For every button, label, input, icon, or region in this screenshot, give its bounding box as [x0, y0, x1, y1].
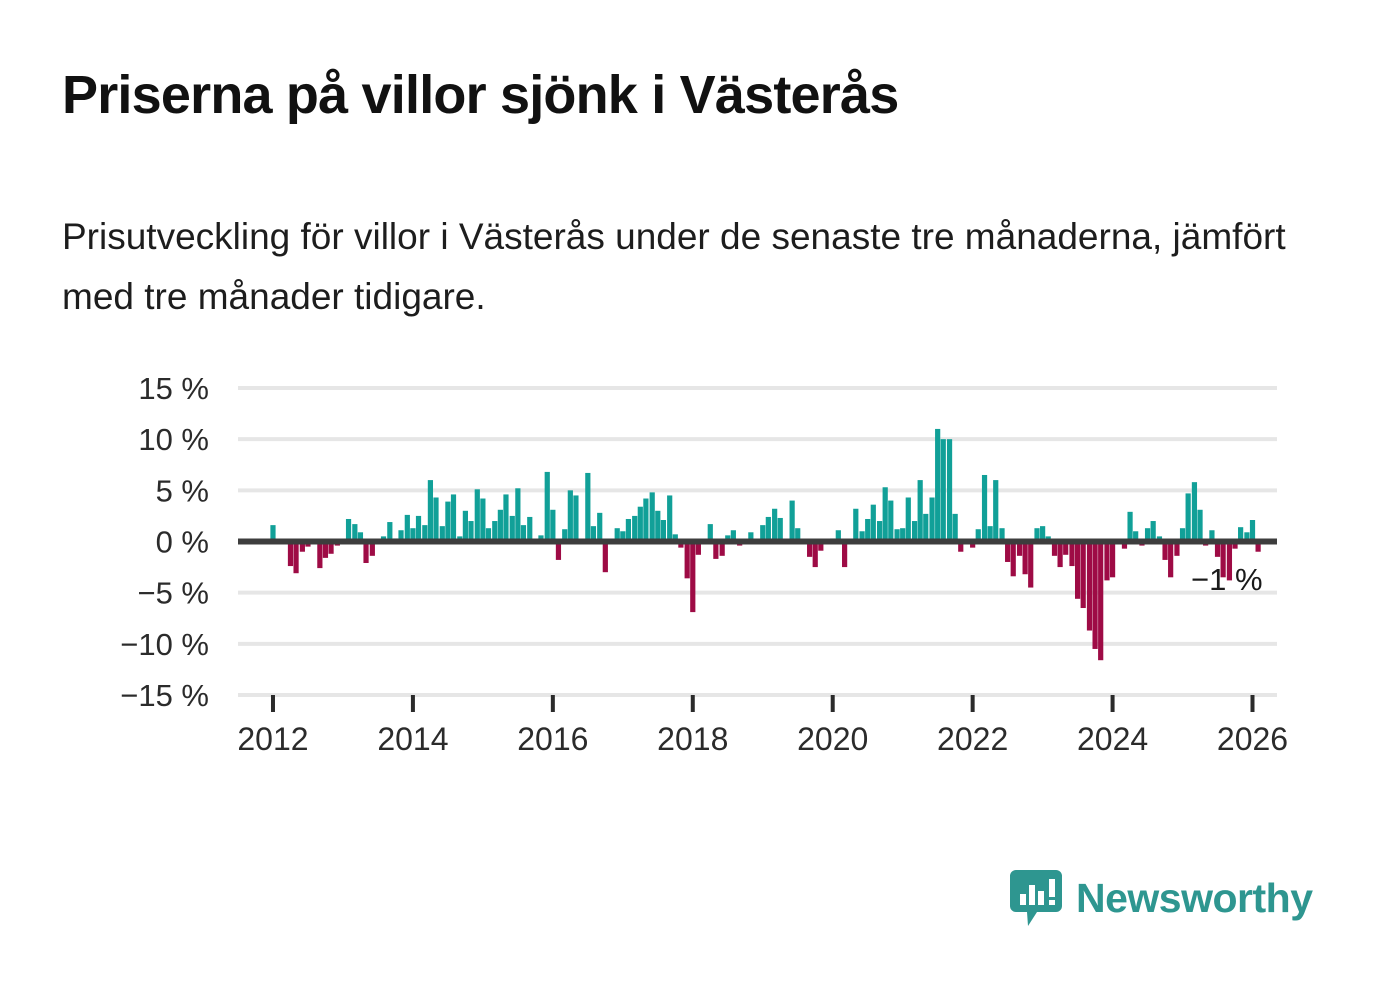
page-title: Priserna på villor sjönk i Västerås	[62, 64, 898, 126]
bar	[1040, 526, 1045, 541]
bar	[1092, 542, 1097, 649]
bar	[650, 492, 655, 541]
y-tick-label: 5 %	[156, 473, 209, 508]
bar	[813, 542, 818, 568]
bar	[923, 514, 928, 542]
bar	[1011, 542, 1016, 577]
bar	[1256, 542, 1261, 552]
bar	[1017, 542, 1022, 556]
bar	[410, 528, 415, 541]
bar	[888, 501, 893, 542]
bar	[1203, 542, 1208, 546]
bar	[970, 542, 975, 548]
bar	[725, 535, 730, 541]
bar	[935, 429, 940, 542]
bar	[620, 531, 625, 541]
bar	[381, 536, 386, 541]
bar	[591, 526, 596, 541]
bar	[433, 497, 438, 541]
y-tick-label: 10 %	[138, 422, 209, 457]
bar	[1192, 482, 1197, 541]
bar	[708, 524, 713, 541]
bar	[346, 519, 351, 542]
infographic-page: Priserna på villor sjönk i Västerås Pris…	[0, 0, 1382, 999]
bar	[1180, 528, 1185, 541]
bar	[603, 542, 608, 573]
bar	[335, 542, 340, 546]
bar	[527, 517, 532, 542]
bar	[1122, 542, 1127, 549]
bar	[1215, 542, 1220, 557]
bar	[1145, 528, 1150, 541]
bar	[982, 475, 987, 542]
bar	[1151, 521, 1156, 541]
bar	[480, 499, 485, 542]
bar	[515, 488, 520, 541]
bar	[387, 522, 392, 541]
bar	[463, 511, 468, 542]
bar	[445, 502, 450, 542]
bar	[416, 516, 421, 542]
bar	[538, 535, 543, 541]
bar	[871, 505, 876, 542]
bar	[1087, 542, 1092, 631]
bar	[685, 542, 690, 579]
gridlines	[238, 388, 1277, 695]
bar	[1069, 542, 1074, 567]
bar	[1157, 536, 1162, 541]
bar	[556, 542, 561, 560]
chart-canvas: 15 %10 %5 %0 %−5 %−10 %−15 % 20122014201…	[0, 0, 1382, 999]
y-tick-label: −15 %	[120, 678, 209, 713]
bar	[422, 525, 427, 541]
bar	[363, 542, 368, 563]
bar	[498, 510, 503, 542]
bar	[1034, 528, 1039, 541]
bar	[877, 521, 882, 541]
x-tick-label: 2016	[517, 721, 588, 757]
bar	[900, 528, 905, 541]
bar	[270, 525, 275, 541]
newsworthy-logo[interactable]: Newsworthy	[1010, 870, 1313, 926]
bar	[696, 542, 701, 555]
bar	[503, 494, 508, 541]
bar	[1110, 542, 1115, 578]
bar	[1058, 542, 1063, 568]
value-annotation: −1 %	[1191, 562, 1263, 597]
bar	[1081, 542, 1086, 609]
bar	[1168, 542, 1173, 578]
x-axis-tick-labels: 20122014201620182020202220242026	[237, 721, 1288, 757]
bar	[510, 516, 515, 542]
bar	[1127, 512, 1132, 542]
bar	[1028, 542, 1033, 588]
page-subtitle: Prisutveckling för villor i Västerås und…	[62, 207, 1292, 327]
bar	[731, 530, 736, 541]
bar	[1244, 532, 1249, 541]
bar	[999, 528, 1004, 541]
bar	[859, 531, 864, 541]
bar	[638, 507, 643, 542]
bar	[1098, 542, 1103, 661]
bar	[947, 439, 952, 541]
bar	[760, 525, 765, 541]
bar	[573, 495, 578, 541]
x-tick-label: 2018	[657, 721, 728, 757]
bar	[836, 530, 841, 541]
bar	[468, 521, 473, 541]
bar	[293, 542, 298, 574]
bar-series	[270, 429, 1260, 660]
bar	[929, 497, 934, 541]
bar	[865, 519, 870, 542]
bar	[1052, 542, 1057, 556]
bar	[626, 519, 631, 542]
bar	[405, 515, 410, 542]
bar	[1209, 530, 1214, 541]
bar	[661, 520, 666, 541]
bar	[1221, 542, 1226, 578]
y-tick-label: −5 %	[137, 576, 209, 611]
x-tick-label: 2022	[937, 721, 1008, 757]
bar	[795, 528, 800, 541]
bar	[1197, 510, 1202, 542]
bar	[1186, 493, 1191, 541]
bar	[568, 490, 573, 541]
bar	[993, 480, 998, 541]
bar	[1046, 536, 1051, 541]
bar	[398, 530, 403, 541]
bar	[323, 542, 328, 558]
bar	[486, 528, 491, 541]
bar	[393, 538, 398, 541]
bar	[1063, 542, 1068, 555]
bar	[883, 487, 888, 541]
bar	[953, 514, 958, 542]
bar	[772, 509, 777, 542]
bar	[1250, 520, 1255, 541]
bar	[818, 542, 823, 551]
bar	[550, 510, 555, 542]
bar	[1227, 542, 1232, 581]
bar	[853, 509, 858, 542]
bar	[690, 542, 695, 613]
x-tick-label: 2020	[797, 721, 868, 757]
bar	[1162, 542, 1167, 560]
bar	[597, 513, 602, 542]
bar	[778, 518, 783, 542]
bar	[655, 511, 660, 542]
bar	[807, 542, 812, 557]
bar	[918, 480, 923, 541]
bar	[305, 542, 310, 547]
bar	[475, 489, 480, 541]
bar	[457, 536, 462, 541]
y-tick-label: 15 %	[138, 371, 209, 406]
bar	[585, 473, 590, 542]
bar	[894, 529, 899, 541]
bar	[667, 495, 672, 541]
bar	[988, 526, 993, 541]
bar	[562, 529, 567, 541]
bar	[941, 439, 946, 541]
bar	[958, 542, 963, 552]
bar	[1075, 542, 1080, 599]
bar	[766, 517, 771, 542]
bar	[830, 538, 835, 541]
y-axis-tick-labels: 15 %10 %5 %0 %−5 %−10 %−15 %	[120, 371, 209, 713]
bar	[358, 532, 363, 541]
bar	[1174, 542, 1179, 556]
bar	[1133, 531, 1138, 541]
bar	[451, 494, 456, 541]
bar	[352, 524, 357, 541]
chart-annotations: −1 %	[1191, 562, 1263, 597]
bar	[743, 542, 748, 544]
x-tick-label: 2014	[377, 721, 448, 757]
bar	[521, 525, 526, 541]
bar	[1104, 542, 1109, 581]
bar	[632, 516, 637, 542]
bar-chart-speech-bubble-icon	[1010, 870, 1062, 926]
bar	[615, 528, 620, 541]
bar	[976, 529, 981, 541]
bar	[748, 532, 753, 541]
bar	[300, 542, 305, 552]
bar	[1005, 542, 1010, 562]
bar	[440, 526, 445, 541]
bar	[545, 472, 550, 542]
bar	[713, 542, 718, 559]
x-tick-label: 2024	[1077, 721, 1148, 757]
bar	[912, 521, 917, 541]
bar	[1238, 527, 1243, 541]
bar	[643, 499, 648, 542]
x-tick-label: 2026	[1217, 721, 1288, 757]
logo-wordmark: Newsworthy	[1076, 878, 1313, 919]
y-tick-label: −10 %	[120, 627, 209, 662]
bar	[842, 542, 847, 568]
bar	[737, 542, 742, 546]
bar	[370, 542, 375, 556]
bar	[906, 497, 911, 541]
bar	[288, 542, 293, 567]
bar-chart: 15 %10 %5 %0 %−5 %−10 %−15 % 20122014201…	[0, 0, 1382, 999]
bar	[1139, 542, 1144, 546]
bar	[678, 542, 683, 548]
bar	[428, 480, 433, 541]
bar	[328, 542, 333, 554]
bar	[492, 521, 497, 541]
bar	[790, 501, 795, 542]
bar	[1023, 542, 1028, 575]
y-tick-label: 0 %	[156, 525, 209, 560]
x-tick-label: 2012	[237, 721, 308, 757]
bar	[720, 542, 725, 556]
bar	[1232, 542, 1237, 549]
bar	[673, 534, 678, 541]
x-axis-ticks	[273, 695, 1253, 712]
bar	[317, 542, 322, 569]
